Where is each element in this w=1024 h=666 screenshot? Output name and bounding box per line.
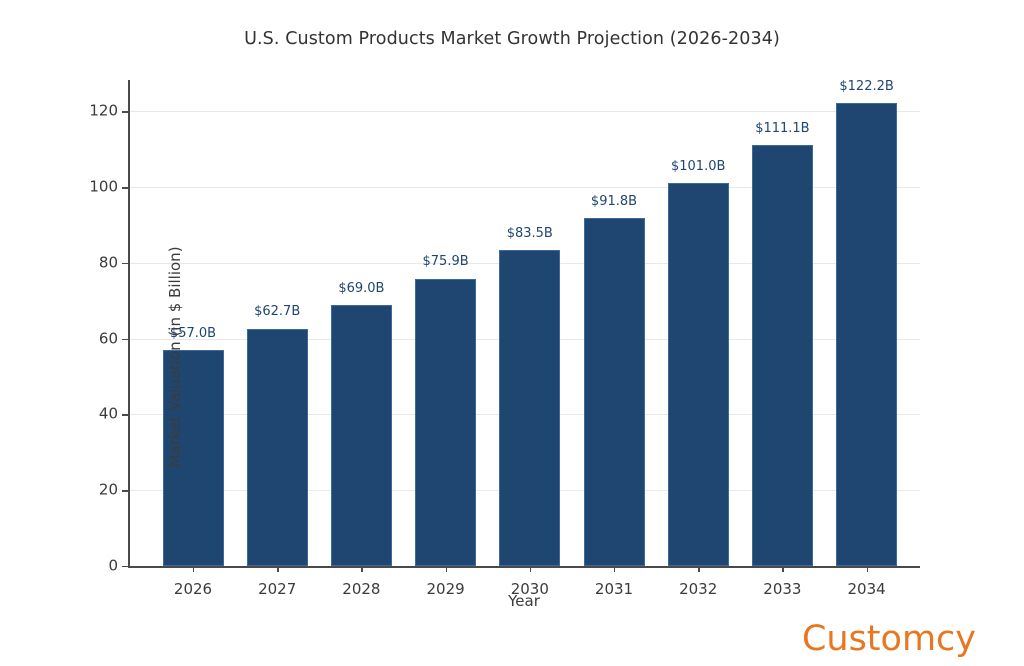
customcy-watermark: Customcy: [802, 620, 976, 659]
y-tick-label: 120: [66, 104, 118, 119]
y-axis-spine: [128, 80, 130, 566]
gridline: [128, 111, 920, 112]
plot-area: 020406080100120 $57.0B$62.7B$69.0B$75.9B…: [128, 80, 920, 566]
bar[interactable]: [752, 145, 813, 566]
bar-value-label: $75.9B: [391, 254, 501, 269]
y-tick-label: 20: [66, 483, 118, 498]
bar[interactable]: [415, 279, 476, 567]
x-axis-title: Year: [128, 592, 920, 610]
bar[interactable]: [499, 250, 560, 566]
y-tick-label: 0: [66, 559, 118, 574]
bar[interactable]: [584, 218, 645, 566]
bar-value-label: $122.2B: [812, 79, 922, 94]
bar[interactable]: [247, 329, 308, 567]
y-tick-label: 40: [66, 407, 118, 422]
bar-value-label: $69.0B: [306, 281, 416, 296]
bar-value-label: $57.0B: [138, 326, 248, 341]
y-tick-label: 100: [66, 180, 118, 195]
bar-value-label: $91.8B: [559, 194, 669, 209]
y-axis-title: Market Valuation (in $ Billion): [166, 114, 184, 600]
bar-value-label: $101.0B: [643, 159, 753, 174]
bar-value-label: $83.5B: [475, 226, 585, 241]
bar[interactable]: [668, 183, 729, 566]
x-axis-spine: [128, 566, 920, 568]
y-tick-label: 60: [66, 331, 118, 346]
bar[interactable]: [836, 103, 897, 566]
bar[interactable]: [331, 305, 392, 566]
chart-figure: U.S. Custom Products Market Growth Proje…: [0, 0, 1024, 666]
bar-value-label: $62.7B: [222, 304, 332, 319]
bar-value-label: $111.1B: [727, 121, 837, 136]
y-tick-label: 80: [66, 255, 118, 270]
chart-title: U.S. Custom Products Market Growth Proje…: [0, 29, 1024, 49]
